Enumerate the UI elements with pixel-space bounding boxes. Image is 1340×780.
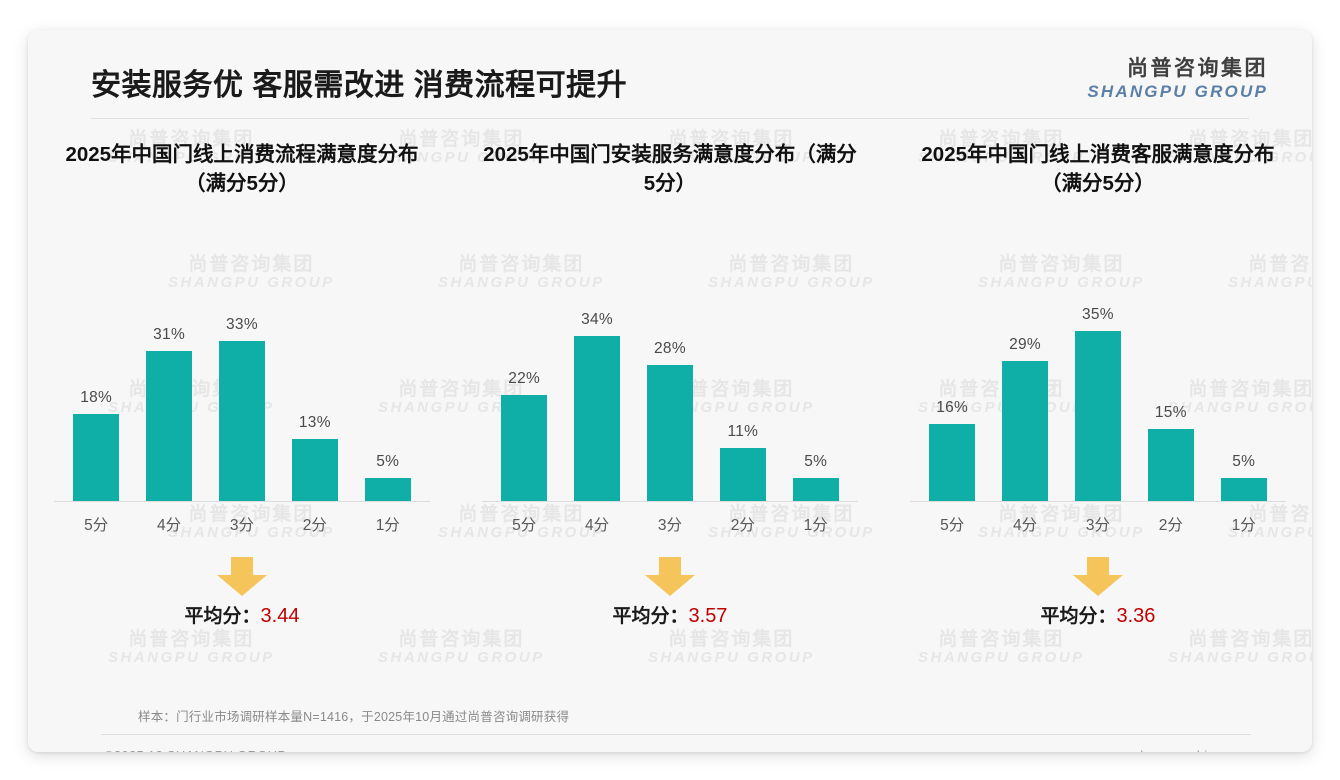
bar-column[interactable]: 28% bbox=[636, 242, 704, 502]
plot-area: 22%34%28%11%5% bbox=[468, 242, 872, 502]
bar-rect[interactable] bbox=[73, 414, 119, 502]
bar-rect[interactable] bbox=[365, 478, 411, 502]
x-tick-label: 3分 bbox=[1064, 513, 1132, 535]
chart-panel-3: 2025年中国门线上消费客服满意度分布（满分5分）16%29%35%15%5%5… bbox=[884, 140, 1312, 637]
logo-chinese-text: 尚普咨询集团 bbox=[1087, 57, 1268, 81]
bar-column[interactable]: 5% bbox=[354, 242, 422, 502]
x-tick-label: 5分 bbox=[62, 513, 130, 535]
x-tick-label: 2分 bbox=[709, 513, 777, 535]
bar-column[interactable]: 5% bbox=[1210, 242, 1278, 502]
bar-value-label: 34% bbox=[581, 311, 613, 329]
chart-panel-1: 2025年中国门线上消费流程满意度分布（满分5分）18%31%33%13%5%5… bbox=[28, 140, 456, 637]
bar-value-label: 15% bbox=[1155, 404, 1187, 422]
bar-value-label: 18% bbox=[80, 389, 112, 407]
x-axis-line bbox=[54, 501, 430, 502]
footer-divider bbox=[101, 734, 1251, 735]
bar-column[interactable]: 29% bbox=[991, 242, 1059, 502]
x-tick-label: 4分 bbox=[135, 513, 203, 535]
average-score-text: 平均分：3.57 bbox=[612, 601, 727, 628]
plot-area: 16%29%35%15%5% bbox=[896, 242, 1300, 502]
bar-value-label: 11% bbox=[727, 423, 758, 441]
average-value: 3.57 bbox=[689, 605, 728, 627]
bar-column[interactable]: 15% bbox=[1137, 242, 1205, 502]
bar-rect[interactable] bbox=[1002, 361, 1048, 502]
bar-rect[interactable] bbox=[720, 448, 766, 502]
average-value: 3.36 bbox=[1116, 605, 1155, 627]
header-divider bbox=[91, 118, 1249, 119]
average-label: 平均分： bbox=[612, 606, 688, 627]
x-tick-label: 2分 bbox=[1137, 513, 1205, 535]
x-tick-label: 3分 bbox=[208, 513, 276, 535]
bar-value-label: 5% bbox=[804, 453, 827, 471]
bar-column[interactable]: 5% bbox=[782, 242, 850, 502]
bar-rect[interactable] bbox=[793, 478, 839, 502]
down-arrow-icon bbox=[643, 557, 697, 597]
bar-value-label: 16% bbox=[936, 399, 968, 417]
brand-logo: 尚普咨询集团 SHANGPU GROUP bbox=[1087, 57, 1268, 102]
bar-rect[interactable] bbox=[501, 395, 547, 502]
slide-footer: ©2025.12 SHANGPU GROUP www.shangpu-china… bbox=[28, 742, 1312, 752]
bar-column[interactable]: 22% bbox=[490, 242, 558, 502]
bar-column[interactable]: 33% bbox=[208, 242, 276, 502]
x-tick-label: 4分 bbox=[563, 513, 631, 535]
average-value: 3.44 bbox=[261, 605, 300, 627]
average-label: 平均分： bbox=[185, 606, 261, 627]
chart-title: 2025年中国门线上消费客服满意度分布（满分5分） bbox=[896, 140, 1300, 202]
bar-value-label: 31% bbox=[153, 326, 185, 344]
bar-value-label: 22% bbox=[508, 370, 540, 388]
plot-area: 18%31%33%13%5% bbox=[40, 242, 444, 502]
website-link[interactable]: www.shangpu-china.com bbox=[1101, 748, 1252, 752]
bar-rect[interactable] bbox=[1221, 478, 1267, 502]
x-axis-tick-labels: 5分4分3分2分1分 bbox=[40, 513, 444, 535]
bar-column[interactable]: 35% bbox=[1064, 242, 1132, 502]
bar-rect[interactable] bbox=[647, 365, 693, 502]
chart-title: 2025年中国门安装服务满意度分布（满分5分） bbox=[468, 140, 872, 202]
bar-rect[interactable] bbox=[219, 341, 265, 502]
bar-column[interactable]: 16% bbox=[918, 242, 986, 502]
logo-english-text: SHANGPU GROUP bbox=[1087, 82, 1268, 102]
average-score-text: 平均分：3.36 bbox=[1040, 601, 1155, 628]
sample-footnote: 样本：门行业市场调研样本量N=1416，于2025年10月通过尚普咨询调研获得 bbox=[138, 706, 569, 725]
x-tick-label: 1分 bbox=[782, 513, 850, 535]
x-tick-label: 1分 bbox=[1210, 513, 1278, 535]
slide-header: 安装服务优 客服需改进 消费流程可提升 尚普咨询集团 SHANGPU GROUP bbox=[28, 30, 1312, 118]
bar-rect[interactable] bbox=[929, 424, 975, 502]
bar-rect[interactable] bbox=[146, 351, 192, 502]
copyright-text: ©2025.12 SHANGPU GROUP bbox=[104, 748, 286, 752]
x-tick-label: 5分 bbox=[918, 513, 986, 535]
x-tick-label: 5分 bbox=[490, 513, 558, 535]
x-axis-line bbox=[482, 501, 858, 502]
bar-rect[interactable] bbox=[292, 439, 338, 502]
bar-value-label: 5% bbox=[1232, 453, 1255, 471]
average-callout: 平均分：3.57 bbox=[468, 557, 872, 637]
chart-title: 2025年中国门线上消费流程满意度分布（满分5分） bbox=[40, 140, 444, 202]
bar-value-label: 13% bbox=[299, 414, 331, 432]
bar-column[interactable]: 34% bbox=[563, 242, 631, 502]
bar-value-label: 33% bbox=[226, 316, 258, 334]
bar-series: 16%29%35%15%5% bbox=[918, 242, 1278, 502]
chart-panel-2: 2025年中国门安装服务满意度分布（满分5分）22%34%28%11%5%5分4… bbox=[456, 140, 884, 637]
x-axis-tick-labels: 5分4分3分2分1分 bbox=[468, 513, 872, 535]
page-title: 安装服务优 客服需改进 消费流程可提升 bbox=[91, 60, 627, 104]
bar-value-label: 28% bbox=[654, 340, 686, 358]
x-tick-label: 1分 bbox=[354, 513, 422, 535]
x-tick-label: 3分 bbox=[636, 513, 704, 535]
slide-card: 尚普咨询集团SHANGPU GROUP尚普咨询集团SHANGPU GROUP尚普… bbox=[28, 30, 1312, 752]
average-score-text: 平均分：3.44 bbox=[185, 601, 300, 628]
bar-value-label: 29% bbox=[1009, 336, 1041, 354]
bar-column[interactable]: 13% bbox=[281, 242, 349, 502]
bar-series: 18%31%33%13%5% bbox=[62, 242, 422, 502]
bar-rect[interactable] bbox=[574, 336, 620, 502]
bar-value-label: 35% bbox=[1082, 306, 1114, 324]
average-callout: 平均分：3.36 bbox=[896, 557, 1300, 637]
x-tick-label: 4分 bbox=[991, 513, 1059, 535]
x-tick-label: 2分 bbox=[281, 513, 349, 535]
x-axis-tick-labels: 5分4分3分2分1分 bbox=[896, 513, 1300, 535]
bar-column[interactable]: 18% bbox=[62, 242, 130, 502]
bar-rect[interactable] bbox=[1148, 429, 1194, 502]
charts-row: 2025年中国门线上消费流程满意度分布（满分5分）18%31%33%13%5%5… bbox=[28, 140, 1312, 637]
x-axis-line bbox=[910, 501, 1286, 502]
average-callout: 平均分：3.44 bbox=[40, 557, 444, 637]
bar-column[interactable]: 31% bbox=[135, 242, 203, 502]
bar-value-label: 5% bbox=[376, 453, 399, 471]
bar-series: 22%34%28%11%5% bbox=[490, 242, 850, 502]
down-arrow-icon bbox=[1071, 557, 1125, 597]
bar-rect[interactable] bbox=[1075, 331, 1121, 502]
down-arrow-icon bbox=[215, 557, 269, 597]
bar-column[interactable]: 11% bbox=[709, 242, 777, 502]
average-label: 平均分： bbox=[1040, 606, 1116, 627]
